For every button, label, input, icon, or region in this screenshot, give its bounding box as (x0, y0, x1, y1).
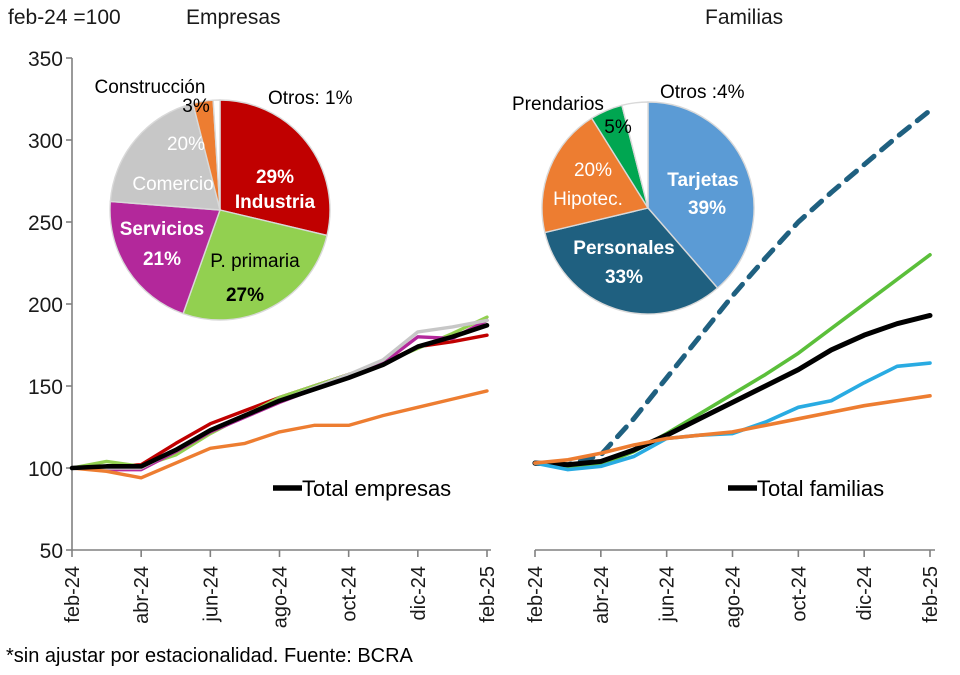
pie-label-servicios-value: 21% (143, 249, 181, 270)
pie-label-construccion: Construcción (95, 77, 206, 98)
x-tick-label: jun-24 (200, 566, 222, 623)
x-tick-label: abr-24 (591, 566, 613, 624)
pie-label-hipotec-value: 20% (574, 160, 612, 181)
legend-label-total-empresas: Total empresas (302, 476, 451, 501)
pie-label-servicios: Servicios (120, 219, 205, 240)
pie-label-hipotec: Hipotec. (553, 189, 623, 210)
footnote-source: *sin ajustar por estacionalidad. Fuente:… (6, 645, 413, 668)
pie-label-tarjetas-value: 39% (688, 198, 726, 219)
y-tick-label: 200 (28, 294, 63, 317)
x-tick-label: dic-24 (854, 566, 876, 620)
pie-label-industria: Industria (235, 192, 316, 213)
x-axis-tick-labels-right: feb-24abr-24jun-24ago-24oct-24dic-24feb-… (525, 566, 942, 628)
x-tick-label: ago-24 (270, 566, 292, 628)
axis-lines-right (535, 550, 935, 557)
y-tick-label: 100 (28, 458, 63, 481)
chart-page: feb-24 =100 Empresas Familias *sin ajust… (0, 0, 960, 675)
x-axis-tick-labels-left: feb-24abr-24jun-24ago-24oct-24dic-24feb-… (62, 566, 499, 628)
pie-label-p-primaria-value: 27% (226, 285, 264, 306)
pie-label-personales-value: 33% (605, 267, 643, 288)
x-tick-label: dic-24 (408, 566, 430, 620)
line-series-p-primaria (72, 317, 487, 468)
x-tick-label: abr-24 (131, 566, 153, 624)
pie-label-otros-familias: Otros :4% (660, 82, 745, 103)
y-tick-label: 150 (28, 376, 63, 399)
line-series-total-familias (535, 315, 930, 464)
empresas-chart: 35030025020015010050 Construcción3%Otros… (0, 0, 500, 645)
line-series-left (72, 317, 487, 478)
pie-label-personales: Personales (573, 238, 674, 259)
pie-label-comercio: Comercio (132, 174, 213, 195)
y-tick-label: 50 (40, 540, 63, 563)
familias-chart: Prendarios5%Otros :4%Tarjetas39%Personal… (500, 0, 960, 645)
pie-label-industria-value: 29% (256, 167, 294, 188)
line-series-hipotecarios (535, 396, 930, 463)
pie-label-tarjetas: Tarjetas (667, 170, 738, 191)
x-tick-label: oct-24 (339, 566, 361, 622)
pie-label-construccion-value: 3% (182, 96, 210, 117)
x-tick-label: feb-24 (525, 566, 547, 623)
pie-label-prendarios: Prendarios (512, 94, 604, 115)
x-tick-label: feb-25 (477, 566, 499, 623)
x-tick-label: oct-24 (788, 566, 810, 622)
pie-label-comercio-value: 20% (167, 134, 205, 155)
x-tick-label: feb-24 (62, 566, 84, 623)
x-tick-label: jun-24 (657, 566, 679, 623)
y-axis-tick-labels-left: 35030025020015010050 (28, 48, 63, 563)
pie-label-prendarios-value: 5% (604, 117, 632, 138)
legend-right: Total familias (728, 476, 884, 501)
pie-label-p-primaria: P. primaria (210, 251, 300, 272)
legend-label-total-familias: Total familias (757, 476, 884, 501)
pie-label-otros-empresas: Otros: 1% (268, 88, 353, 109)
y-tick-label: 300 (28, 130, 63, 153)
x-tick-label: feb-25 (920, 566, 942, 623)
y-tick-label: 350 (28, 48, 63, 71)
y-tick-label: 250 (28, 212, 63, 235)
x-tick-label: ago-24 (723, 566, 745, 628)
legend-left: Total empresas (273, 476, 451, 501)
